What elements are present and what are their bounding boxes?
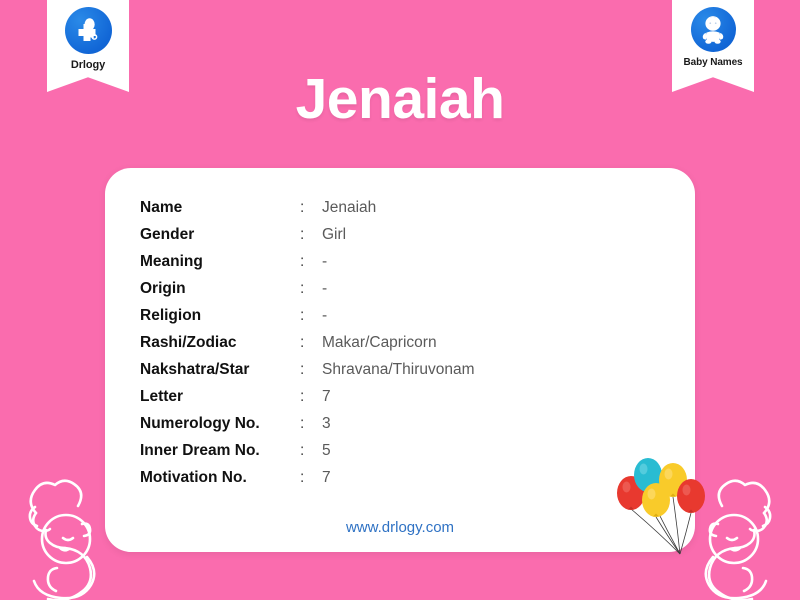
table-body: Name : Jenaiah Gender : Girl Meaning : -… — [140, 194, 475, 491]
row-label: Motivation No. — [140, 464, 300, 491]
row-value: 7 — [322, 383, 475, 410]
page-title: Jenaiah — [0, 66, 800, 132]
row-separator: : — [300, 356, 322, 383]
table-row: Rashi/Zodiac : Makar/Capricorn — [140, 329, 475, 356]
row-label: Nakshatra/Star — [140, 356, 300, 383]
row-value: Jenaiah — [322, 194, 475, 221]
row-separator: : — [300, 275, 322, 302]
table-row: Meaning : - — [140, 248, 475, 275]
row-separator: : — [300, 410, 322, 437]
row-value: - — [322, 275, 475, 302]
baby-icon — [691, 7, 736, 52]
row-value: Girl — [322, 221, 475, 248]
row-separator: : — [300, 437, 322, 464]
row-label: Letter — [140, 383, 300, 410]
table-row: Name : Jenaiah — [140, 194, 475, 221]
row-label: Numerology No. — [140, 410, 300, 437]
row-separator: : — [300, 248, 322, 275]
table-row: Inner Dream No. : 5 — [140, 437, 475, 464]
mother-and-baby-icon — [696, 460, 800, 600]
table-row: Religion : - — [140, 302, 475, 329]
table-row: Motivation No. : 7 — [140, 464, 475, 491]
mother-and-baby-icon — [0, 460, 104, 600]
row-value: Makar/Capricorn — [322, 329, 475, 356]
row-separator: : — [300, 329, 322, 356]
row-value: - — [322, 248, 475, 275]
row-label: Origin — [140, 275, 300, 302]
row-separator: : — [300, 383, 322, 410]
table-row: Numerology No. : 3 — [140, 410, 475, 437]
row-separator: : — [300, 464, 322, 491]
name-details-card: Name : Jenaiah Gender : Girl Meaning : -… — [105, 168, 695, 552]
row-label: Meaning — [140, 248, 300, 275]
row-separator: : — [300, 194, 322, 221]
row-label: Inner Dream No. — [140, 437, 300, 464]
table-row: Nakshatra/Star : Shravana/Thiruvonam — [140, 356, 475, 383]
row-value: 7 — [322, 464, 475, 491]
row-label: Name — [140, 194, 300, 221]
table-row: Origin : - — [140, 275, 475, 302]
row-label: Rashi/Zodiac — [140, 329, 300, 356]
row-label: Religion — [140, 302, 300, 329]
row-label: Gender — [140, 221, 300, 248]
drlogy-doctor-icon — [65, 7, 112, 54]
table-row: Gender : Girl — [140, 221, 475, 248]
row-value: 5 — [322, 437, 475, 464]
row-separator: : — [300, 302, 322, 329]
row-value: Shravana/Thiruvonam — [322, 356, 475, 383]
site-url[interactable]: www.drlogy.com — [105, 519, 695, 536]
row-value: 3 — [322, 410, 475, 437]
table-row: Letter : 7 — [140, 383, 475, 410]
row-separator: : — [300, 221, 322, 248]
name-details-table: Name : Jenaiah Gender : Girl Meaning : -… — [140, 194, 475, 491]
row-value: - — [322, 302, 475, 329]
